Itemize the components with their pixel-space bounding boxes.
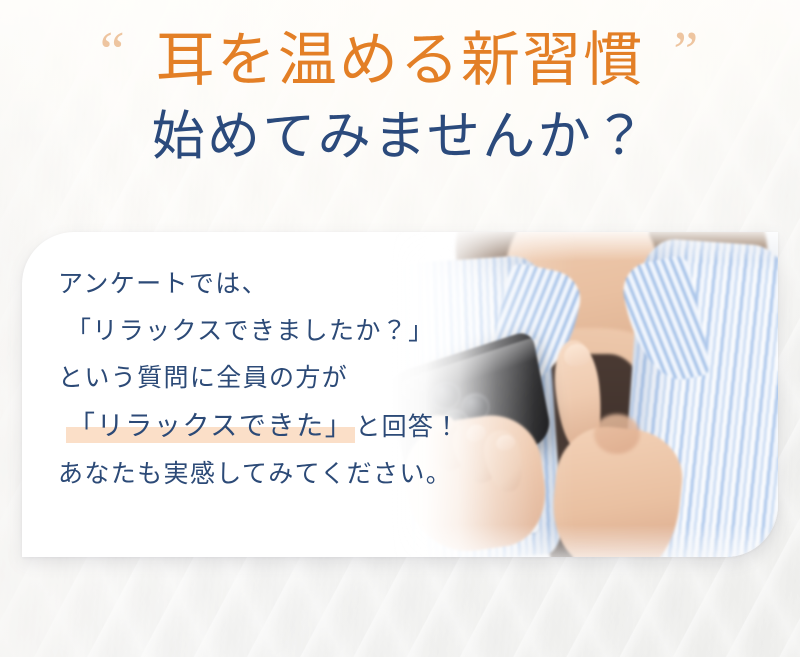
promo-poster: “ 耳を温める新習慣 ” 始めてみませんか？ — [0, 0, 800, 657]
photo-knuckle — [594, 414, 640, 454]
answer-tail-text: と回答！ — [355, 414, 460, 441]
survey-result-card: アンケートでは、 「リラックスできましたか？」 という質問に全員の方が 「リラッ… — [22, 232, 778, 557]
highlighted-answer: 「リラックスできた」 — [66, 413, 355, 440]
headline-block: “ 耳を温める新習慣 ” 始めてみませんか？ — [0, 26, 800, 169]
copy-line-2-question: 「リラックスできましたか？」 — [58, 319, 478, 344]
headline-primary-row: “ 耳を温める新習慣 ” — [156, 26, 645, 94]
copy-line-5-cta: あなたも実感してみてください。 — [58, 462, 478, 487]
highlighted-answer-text: 「リラックスできた」 — [68, 411, 353, 441]
copy-line-3: という質問に全員の方が — [58, 366, 478, 391]
closing-quote-icon: ” — [673, 24, 698, 80]
opening-quote-icon: “ — [100, 24, 125, 80]
survey-copy-block: アンケートでは、 「リラックスできましたか？」 という質問に全員の方が 「リラッ… — [58, 272, 478, 487]
copy-line-4-answer: 「リラックスできた」 と回答！ — [58, 413, 478, 440]
copy-line-1: アンケートでは、 — [58, 272, 478, 297]
headline-line-2: 始めてみませんか？ — [0, 106, 800, 169]
headline-line-1: 耳を温める新習慣 — [156, 27, 645, 93]
